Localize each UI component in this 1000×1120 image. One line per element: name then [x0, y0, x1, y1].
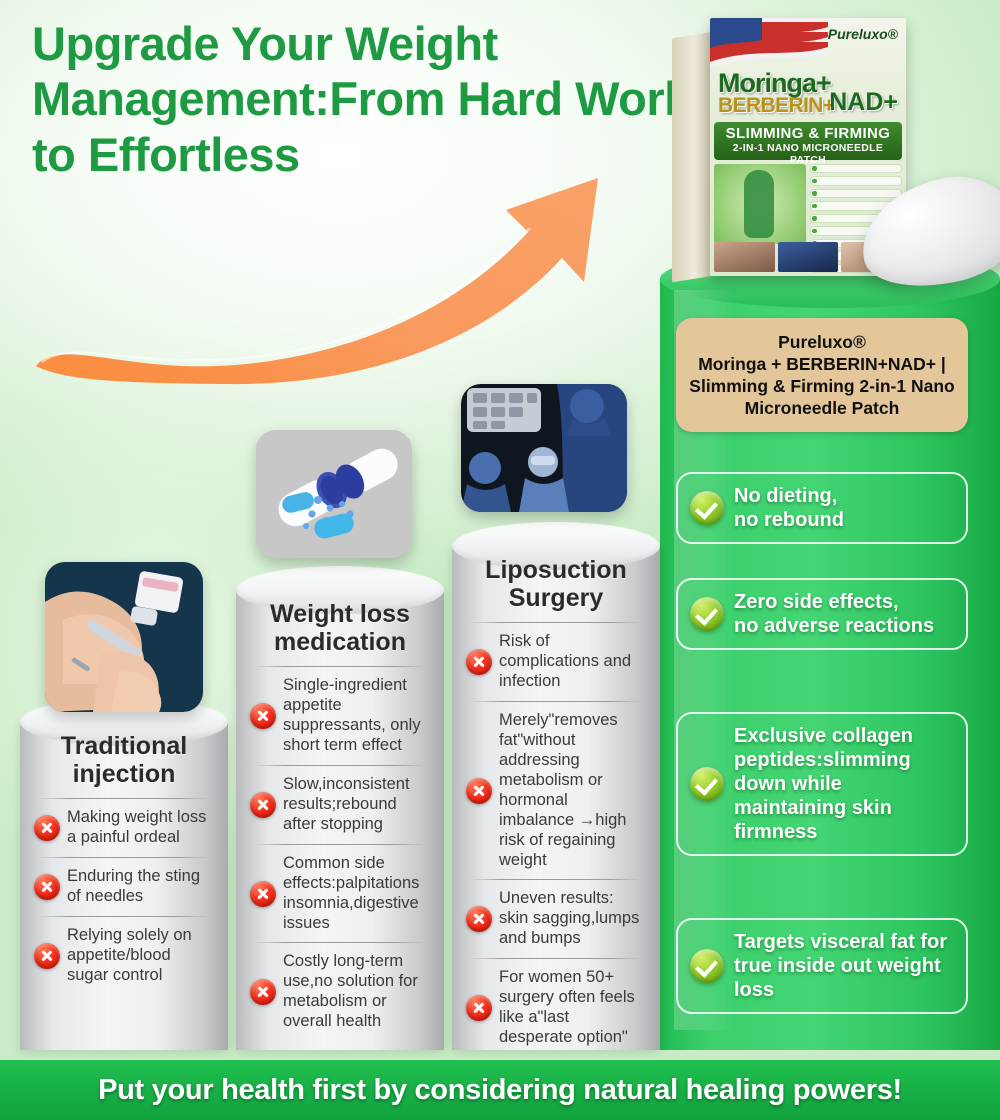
body-silhouette-icon — [744, 170, 774, 238]
cross-icon — [250, 792, 276, 818]
divider — [254, 844, 426, 845]
cross-icon — [466, 649, 492, 675]
list-item: Enduring the sting of needles — [34, 865, 214, 909]
package-side-panel — [672, 32, 712, 282]
divider — [254, 666, 426, 667]
bottom-banner: Put your health first by considering nat… — [0, 1060, 1000, 1120]
package-body-diagram — [714, 164, 806, 244]
list-item-text: Relying solely on appetite/blood sugar c… — [67, 926, 214, 986]
divider — [38, 916, 210, 917]
package-band-line2: 2-IN-1 NANO MICRONEEDLE PATCH — [714, 142, 902, 166]
check-icon — [690, 767, 724, 801]
benefit-card-3[interactable]: Exclusive collagen peptides:slimming dow… — [676, 712, 968, 856]
benefit-card-2[interactable]: Zero side effects,no adverse reactions — [676, 578, 968, 650]
check-icon — [690, 949, 724, 983]
list-item: Making weight loss a painful ordeal — [34, 806, 214, 850]
product-name-box: Pureluxo®Moringa + BERBERIN+NAD+ | Slimm… — [676, 318, 968, 432]
column-title: Weight loss medication — [250, 600, 430, 656]
list-item: Merely"removes fat"without addressing me… — [466, 709, 646, 873]
benefit-card-4[interactable]: Targets visceral fat for true inside out… — [676, 918, 968, 1014]
divider — [470, 701, 642, 702]
list-item-text: Enduring the sting of needles — [67, 867, 214, 907]
package-band: SLIMMING & FIRMING 2-IN-1 NANO MICRONEED… — [714, 122, 902, 160]
banner-text: Put your health first by considering nat… — [98, 1074, 902, 1107]
cross-icon — [250, 979, 276, 1005]
list-item: For women 50+ surgery often feels like a… — [466, 966, 646, 1050]
cross-icon — [34, 815, 60, 841]
benefit-text: Zero side effects,no adverse reactions — [734, 590, 954, 638]
cross-icon — [34, 874, 60, 900]
list-item-text: Single-ingredient appetite suppressants,… — [283, 676, 430, 756]
list-item: Common side effects:palpitations insomni… — [250, 852, 430, 936]
list-item: Uneven results: skin sagging,lumps and b… — [466, 887, 646, 951]
page-headline: Upgrade Your Weight Management:From Hard… — [32, 16, 692, 182]
column-title: Traditional injection — [34, 732, 214, 788]
cross-icon — [250, 881, 276, 907]
list-item-text: Costly long-term use,no solution for met… — [283, 952, 430, 1032]
injection-photo — [45, 562, 203, 712]
cross-icon — [250, 703, 276, 729]
column-weight-loss-medication: Weight loss medication Single-ingredient… — [236, 566, 444, 1050]
check-icon — [690, 597, 724, 631]
column-liposuction-surgery: Liposuction Surgery Risk of complication… — [452, 522, 660, 1050]
liposuction-photo — [461, 384, 627, 512]
divider — [254, 765, 426, 766]
check-icon — [690, 491, 724, 525]
benefit-card-1[interactable]: No dieting,no rebound — [676, 472, 968, 544]
list-item: Risk of complications and infection — [466, 630, 646, 694]
benefit-text: No dieting,no rebound — [734, 484, 954, 532]
list-item: Slow,inconsistent results;rebound after … — [250, 773, 430, 837]
growth-arrow — [28, 170, 668, 390]
divider — [470, 622, 642, 623]
list-item: Single-ingredient appetite suppressants,… — [250, 674, 430, 758]
list-item-text: Risk of complications and infection — [499, 632, 646, 692]
column-title: Liposuction Surgery — [466, 556, 646, 612]
divider — [38, 857, 210, 858]
benefit-text: Exclusive collagen peptides:slimming dow… — [734, 724, 954, 844]
list-item: Costly long-term use,no solution for met… — [250, 950, 430, 1034]
cross-icon — [34, 943, 60, 969]
list-item-text: Common side effects:palpitations insomni… — [283, 854, 430, 934]
divider — [470, 958, 642, 959]
column-traditional-injection: Traditional injection Making weight loss… — [20, 698, 228, 1050]
benefit-text: Targets visceral fat for true inside out… — [734, 930, 954, 1002]
cross-icon — [466, 778, 492, 804]
divider — [470, 879, 642, 880]
list-item: Relying solely on appetite/blood sugar c… — [34, 924, 214, 988]
cross-icon — [466, 995, 492, 1021]
cross-icon — [466, 906, 492, 932]
list-item-text: Making weight loss a painful ordeal — [67, 808, 214, 848]
infographic-canvas: Upgrade Your Weight Management:From Hard… — [0, 0, 1000, 1120]
package-band-line1: SLIMMING & FIRMING — [714, 125, 902, 142]
medication-photo — [256, 430, 412, 558]
list-item-text: Slow,inconsistent results;rebound after … — [283, 775, 430, 835]
package-brand: Pureluxo® — [828, 26, 898, 42]
package-title-nad: NAD+ — [829, 88, 898, 117]
list-item-text: Uneven results: skin sagging,lumps and b… — [499, 889, 646, 949]
list-item-text: For women 50+ surgery often feels like a… — [499, 968, 646, 1048]
list-item-text: Merely"removes fat"without addressing me… — [499, 711, 646, 871]
package-title-berberin: BERBERIN+ — [718, 94, 835, 118]
divider — [254, 942, 426, 943]
divider — [38, 798, 210, 799]
